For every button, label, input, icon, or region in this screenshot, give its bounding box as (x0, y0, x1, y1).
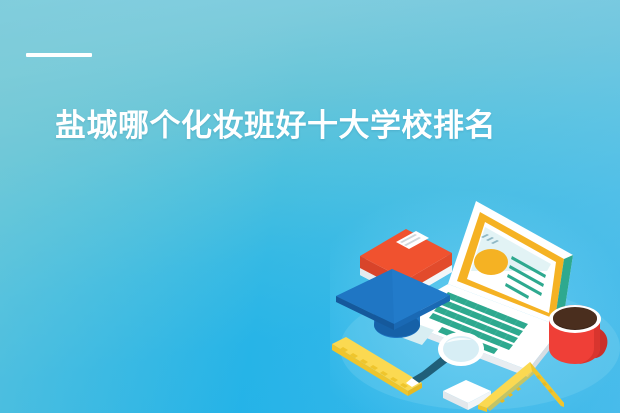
page-title: 盐城哪个化妆班好十大学校排名 (55, 106, 575, 146)
accent-rule (26, 53, 92, 57)
banner: 盐城哪个化妆班好十大学校排名 (0, 0, 620, 413)
education-desk-illustration (330, 198, 620, 413)
avatar-circle (474, 249, 508, 275)
coffee-mug-icon (549, 305, 607, 364)
